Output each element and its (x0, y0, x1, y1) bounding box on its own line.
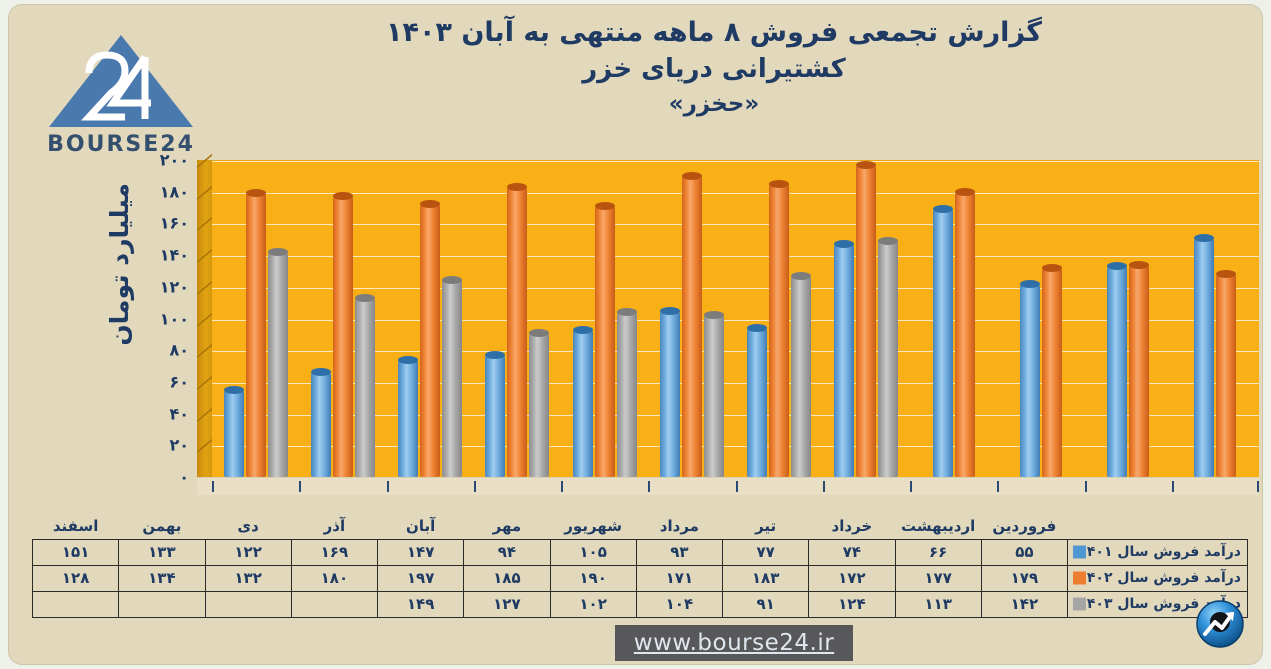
bar-cap (595, 202, 615, 210)
x-axis-tick-3 (474, 481, 476, 492)
page-title: گزارش تجمعی فروش ۸ ماهه منتهی به آبان ۱۴… (209, 15, 1219, 121)
bar-cap (1042, 264, 1062, 272)
bar-cap (246, 189, 266, 197)
y-axis-tick-180: ۱۸۰ (137, 182, 193, 201)
bar-11-series-0 (1194, 238, 1214, 477)
bar-cap (1194, 234, 1214, 242)
table-row: درآمد فروش سال ۱۴۰۱۵۵۶۶۷۴۷۷۹۳۱۰۵۹۴۱۴۷۱۶۹… (33, 539, 1248, 565)
y-axis-title: میلیارد تومان (105, 183, 141, 346)
bar-6-series-1 (769, 184, 789, 477)
table-cell-0-11: ۱۵۱ (33, 539, 119, 565)
x-axis-tick-10 (1085, 481, 1087, 492)
table-body: درآمد فروش سال ۱۴۰۱۵۵۶۶۷۴۷۷۹۳۱۰۵۹۴۱۴۷۱۶۹… (33, 539, 1248, 617)
bar-6-series-0 (747, 328, 767, 477)
bar-group-5 (648, 160, 735, 477)
table-cell-0-10: ۱۳۳ (119, 539, 205, 565)
table-cell-2-4: ۱۰۴ (636, 591, 722, 617)
table-header-row: فروردیناردیبهشتخردادتیرمردادشهریورمهرآبا… (33, 513, 1248, 539)
table-cell-0-0: ۵۵ (981, 539, 1067, 565)
bar-cap (856, 161, 876, 169)
table-cell-1-9: ۱۳۲ (205, 565, 291, 591)
bar-cap (1107, 262, 1127, 270)
bar-7-series-1 (856, 165, 876, 477)
bar-2-series-2 (442, 280, 462, 477)
title-line-3: «حخزر» (209, 87, 1219, 121)
x-axis-tick-0 (212, 481, 214, 492)
y-axis-tick-60: ۶۰ (137, 372, 193, 391)
bar-0-series-1 (246, 193, 266, 477)
wall-rung-60 (197, 376, 212, 391)
bar-cap (485, 351, 505, 359)
bar-group-1 (299, 160, 386, 477)
bar-1-series-1 (333, 196, 353, 477)
y-axis-tick-80: ۸۰ (137, 341, 193, 360)
table-cell-2-5: ۱۰۲ (550, 591, 636, 617)
y-axis-tick-200: ۲۰۰ (137, 151, 193, 170)
table-header-3: تیر (723, 513, 809, 539)
y-axis-tick-120: ۱۲۰ (137, 277, 193, 296)
bar-3-series-1 (507, 187, 527, 477)
legend-cell-series-1: درآمد فروش سال ۱۴۰۲ (1068, 565, 1248, 591)
title-line-1: گزارش تجمعی فروش ۸ ماهه منتهی به آبان ۱۴… (209, 15, 1219, 51)
bar-cap (507, 183, 527, 191)
table-header-0: فروردین (981, 513, 1067, 539)
table-cell-2-9 (205, 591, 291, 617)
x-axis-tick-1 (299, 481, 301, 492)
bar-6-series-2 (791, 276, 811, 477)
bar-cap (682, 172, 702, 180)
table-header-1: اردیبهشت (895, 513, 981, 539)
wall-rung-120 (197, 281, 212, 296)
bar-cap (617, 308, 637, 316)
wall-rung-20 (197, 439, 212, 454)
bar-group-7 (823, 160, 910, 477)
bar-1-series-0 (311, 372, 331, 477)
table-cell-2-3: ۹۱ (723, 591, 809, 617)
table-cell-2-0: ۱۴۲ (981, 591, 1067, 617)
bar-cap (747, 324, 767, 332)
bar-group-2 (387, 160, 474, 477)
x-axis-tick-2 (387, 481, 389, 492)
y-axis-tick-20: ۲۰ (137, 436, 193, 455)
y-axis-tick-100: ۱۰۰ (137, 309, 193, 328)
table-header-10: بهمن (119, 513, 205, 539)
trend-arrow-badge (1196, 600, 1244, 648)
table-cell-0-8: ۱۶۹ (291, 539, 377, 565)
report-card: BOURSE24 گزارش تجمعی فروش ۸ ماهه منتهی ب… (8, 4, 1263, 665)
wall-rung-160 (197, 217, 212, 232)
bar-0-series-0 (224, 390, 244, 477)
bar-cap (529, 329, 549, 337)
bar-cap (442, 276, 462, 284)
table-cell-0-6: ۹۴ (464, 539, 550, 565)
bar-10-series-1 (1129, 265, 1149, 477)
bar-3-series-0 (485, 355, 505, 477)
bar-group-9 (997, 160, 1084, 477)
bar-cap (834, 240, 854, 248)
y-axis-tick-40: ۴۰ (137, 404, 193, 423)
table-cell-2-2: ۱۲۴ (809, 591, 895, 617)
bar-cap (1020, 280, 1040, 288)
legend-label: درآمد فروش سال ۱۴۰۱ (1078, 544, 1241, 560)
data-table-wrapper: فروردیناردیبهشتخردادتیرمردادشهریورمهرآبا… (33, 513, 1248, 618)
table-cell-1-2: ۱۷۲ (809, 565, 895, 591)
table-cell-1-8: ۱۸۰ (291, 565, 377, 591)
bar-5-series-1 (682, 176, 702, 477)
bar-cap (791, 272, 811, 280)
bar-9-series-0 (1020, 284, 1040, 477)
table-header-9: دی (205, 513, 291, 539)
x-axis-tick-6 (736, 481, 738, 492)
table-row: درآمد فروش سال ۱۴۰۲۱۷۹۱۷۷۱۷۲۱۸۳۱۷۱۱۹۰۱۸۵… (33, 565, 1248, 591)
bar-4-series-0 (573, 330, 593, 477)
wall-rung-200 (197, 154, 212, 169)
x-axis-tick-8 (910, 481, 912, 492)
x-axis-tick-11 (1172, 481, 1174, 492)
bar-1-series-2 (355, 298, 375, 477)
table-cell-1-7: ۱۹۷ (378, 565, 464, 591)
legend-cell-series-0: درآمد فروش سال ۱۴۰۱ (1068, 539, 1248, 565)
table-cell-0-2: ۷۴ (809, 539, 895, 565)
bar-cap (573, 326, 593, 334)
table-cell-0-7: ۱۴۷ (378, 539, 464, 565)
bar-11-series-1 (1216, 274, 1236, 477)
bar-group-3 (474, 160, 561, 477)
table-cell-1-5: ۱۹۰ (550, 565, 636, 591)
table-cell-2-10 (119, 591, 205, 617)
table-cell-0-1: ۶۶ (895, 539, 981, 565)
table-head: فروردیناردیبهشتخردادتیرمردادشهریورمهرآبا… (33, 513, 1248, 539)
data-table: فروردیناردیبهشتخردادتیرمردادشهریورمهرآبا… (32, 513, 1248, 618)
table-cell-2-8 (291, 591, 377, 617)
screenshot-root: BOURSE24 گزارش تجمعی فروش ۸ ماهه منتهی ب… (0, 0, 1271, 669)
bar-cap (955, 188, 975, 196)
y-axis-tick-160: ۱۶۰ (137, 214, 193, 233)
table-cell-0-4: ۹۳ (636, 539, 722, 565)
bar-8-series-0 (933, 209, 953, 477)
legend-swatch-icon (1073, 546, 1086, 559)
wall-rung-80 (197, 344, 212, 359)
bar-cap (660, 307, 680, 315)
footer-url-bar[interactable]: www.bourse24.ir (615, 625, 853, 661)
table-cell-2-11 (33, 591, 119, 617)
bar-cap (311, 368, 331, 376)
bar-cap (1216, 270, 1236, 278)
bar-cap (704, 311, 724, 319)
table-cell-0-3: ۷۷ (723, 539, 809, 565)
table-header-11: اسفند (33, 513, 119, 539)
bar-cap (355, 294, 375, 302)
wall-rung-100 (197, 312, 212, 327)
bar-5-series-2 (704, 315, 724, 477)
bar-4-series-2 (617, 312, 637, 477)
x-axis-tick-5 (648, 481, 650, 492)
x-axis-tick-7 (823, 481, 825, 492)
wall-rung-40 (197, 407, 212, 422)
table-cell-2-6: ۱۲۷ (464, 591, 550, 617)
x-axis-tick-4 (561, 481, 563, 492)
bar-cap (224, 386, 244, 394)
table-cell-1-3: ۱۸۳ (723, 565, 809, 591)
table-cell-1-4: ۱۷۱ (636, 565, 722, 591)
bar-cap (398, 356, 418, 364)
bar-group-4 (561, 160, 648, 477)
table-corner-cell (1068, 513, 1248, 539)
bar-3-series-2 (529, 333, 549, 477)
legend-swatch-icon (1073, 598, 1086, 611)
y-axis-tick-140: ۱۴۰ (137, 246, 193, 265)
table-cell-2-7: ۱۴۹ (378, 591, 464, 617)
table-cell-1-11: ۱۲۸ (33, 565, 119, 591)
plot-left-wall-3d (197, 160, 212, 477)
bar-chart-plot (197, 160, 1259, 495)
bar-group-11 (1172, 160, 1259, 477)
bar-cap (933, 205, 953, 213)
wall-rung-140 (197, 249, 212, 264)
table-header-6: مهر (464, 513, 550, 539)
bar-cap (268, 248, 288, 256)
bar-cap (420, 200, 440, 208)
bar-cap (878, 237, 898, 245)
bar-group-6 (736, 160, 823, 477)
bar-cap (1129, 261, 1149, 269)
bar-cap (769, 180, 789, 188)
bar-2-series-1 (420, 204, 440, 477)
title-line-2: کشتیرانی دریای خزر (209, 51, 1219, 87)
bar-group-0 (212, 160, 299, 477)
y-axis-tick-0: ۰ (137, 468, 193, 487)
table-header-7: آبان (378, 513, 464, 539)
bar-7-series-0 (834, 244, 854, 477)
table-header-4: مرداد (636, 513, 722, 539)
x-axis-tick-end (1257, 481, 1259, 492)
table-header-2: خرداد (809, 513, 895, 539)
bar-10-series-0 (1107, 266, 1127, 477)
wall-rung-180 (197, 185, 212, 200)
bar-group-10 (1085, 160, 1172, 477)
bar-0-series-2 (268, 252, 288, 477)
table-cell-0-5: ۱۰۵ (550, 539, 636, 565)
bar-2-series-0 (398, 360, 418, 477)
bar-group-8 (910, 160, 997, 477)
bar-series-container (212, 160, 1259, 477)
website-link[interactable]: www.bourse24.ir (634, 630, 834, 656)
table-row: درآمد فروش سال ۱۴۰۳۱۴۲۱۱۳۱۲۴۹۱۱۰۴۱۰۲۱۲۷۱… (33, 591, 1248, 617)
legend-swatch-icon (1073, 572, 1086, 585)
bar-cap (333, 192, 353, 200)
bar-8-series-1 (955, 192, 975, 477)
table-header-5: شهریور (550, 513, 636, 539)
y-axis-tick-labels: ۲۰۰۱۸۰۱۶۰۱۴۰۱۲۰۱۰۰۸۰۶۰۴۰۲۰۰ (137, 155, 193, 495)
table-cell-1-0: ۱۷۹ (981, 565, 1067, 591)
legend-label: درآمد فروش سال ۱۴۰۲ (1078, 570, 1241, 586)
table-header-8: آذر (291, 513, 377, 539)
table-cell-1-1: ۱۷۷ (895, 565, 981, 591)
bourse24-logo: BOURSE24 (41, 27, 201, 155)
table-cell-1-6: ۱۸۵ (464, 565, 550, 591)
table-cell-2-1: ۱۱۳ (895, 591, 981, 617)
bar-4-series-1 (595, 206, 615, 477)
plot-floor (197, 477, 1259, 495)
bar-5-series-0 (660, 311, 680, 477)
table-cell-1-10: ۱۳۴ (119, 565, 205, 591)
bar-9-series-1 (1042, 268, 1062, 477)
table-cell-0-9: ۱۲۲ (205, 539, 291, 565)
x-axis-tick-9 (997, 481, 999, 492)
bar-7-series-2 (878, 241, 898, 477)
